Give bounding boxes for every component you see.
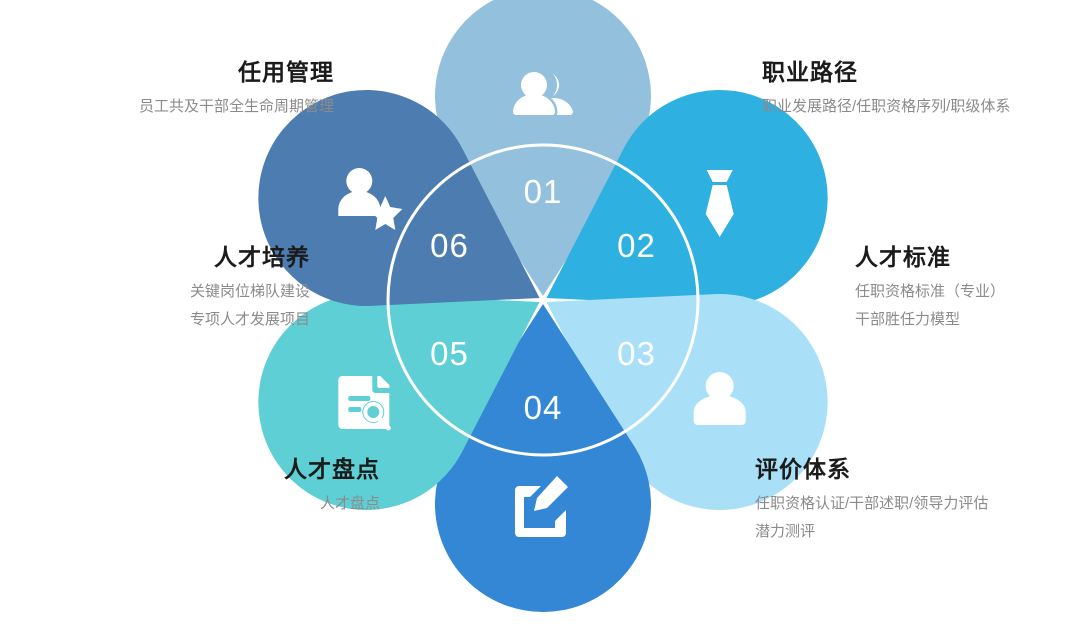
petal-number-05: 05 [430, 335, 469, 372]
petal-title-02: 职业路径 [762, 58, 1010, 87]
petal-number-04: 04 [524, 389, 563, 426]
petal-subtitle-04-line-1: 任职资格认证/干部述职/领导力评估 [755, 490, 988, 518]
petal-subtitle-05-line-1: 人才盘点 [284, 490, 380, 518]
petal-label-04[interactable]: 评价体系 任职资格认证/干部述职/领导力评估 潜力测评 [755, 455, 988, 545]
petal-title-06: 人才培养 [190, 243, 310, 272]
petal-title-05: 人才盘点 [284, 455, 380, 484]
petal-title-03: 人才标准 [855, 243, 1005, 272]
petal-icon-05 [338, 376, 389, 429]
petal-subtitle-03-line-2: 干部胜任力模型 [855, 306, 1005, 334]
petal-subtitle-06-line-1: 关键岗位梯队建设 [190, 278, 310, 306]
petal-number-02: 02 [617, 227, 656, 264]
petal-subtitle-02-line-1: 职业发展路径/任职资格序列/职级体系 [762, 93, 1010, 121]
petal-number-06: 06 [430, 227, 469, 264]
diagram-canvas: 010203040506 任用管理 员工共及干部全生命周期管理 职业路径 职业发… [0, 0, 1081, 626]
petal-label-03[interactable]: 人才标准 任职资格标准（专业） 干部胜任力模型 [855, 243, 1005, 333]
petal-subtitle-06-line-2: 专项人才发展项目 [190, 306, 310, 334]
petal-label-05[interactable]: 人才盘点 人才盘点 [284, 455, 380, 518]
petal-subtitle-04-line-2: 潜力测评 [755, 518, 988, 546]
petal-title-04: 评价体系 [755, 455, 988, 484]
petal-subtitle-03-line-1: 任职资格标准（专业） [855, 278, 1005, 306]
petal-label-01[interactable]: 任用管理 员工共及干部全生命周期管理 [139, 58, 334, 121]
petal-number-01: 01 [524, 173, 563, 210]
petal-number-03: 03 [617, 335, 656, 372]
document-search-icon [338, 376, 389, 429]
petal-label-06[interactable]: 人才培养 关键岗位梯队建设 专项人才发展项目 [190, 243, 310, 333]
petal-title-01: 任用管理 [139, 58, 334, 87]
petal-subtitle-01-line-1: 员工共及干部全生命周期管理 [139, 93, 334, 121]
petal-label-02[interactable]: 职业路径 职业发展路径/任职资格序列/职级体系 [762, 58, 1010, 121]
